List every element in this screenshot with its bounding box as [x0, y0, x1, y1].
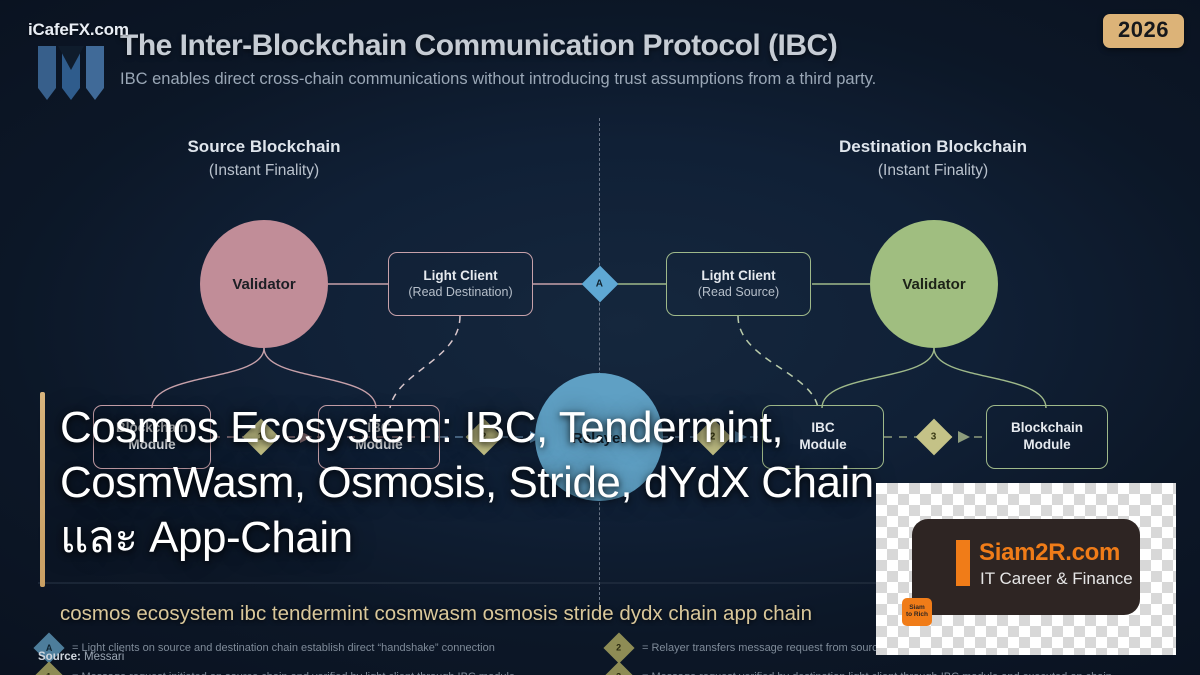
title-accent-bar	[40, 392, 45, 587]
siam2r-logo-card: Siam2R.com IT Career & Finance	[912, 519, 1140, 615]
siam2r-tagline: IT Career & Finance	[980, 569, 1133, 589]
overlay-keywords: cosmos ecosystem ibc tendermint cosmwasm…	[60, 602, 960, 626]
dest-light-client-title: Light Client	[701, 268, 775, 285]
dest-light-client-sub: (Read Source)	[698, 285, 779, 301]
slide-canvas: iCafeFX.com The Inter-Blockchain Communi…	[0, 0, 1200, 675]
dest-blockchain-module-l1: Blockchain	[1011, 420, 1083, 437]
source-light-client-box: Light Client (Read Destination)	[388, 252, 533, 316]
dest-blockchain-module-box: Blockchain Module	[986, 405, 1108, 469]
marker-3-label: 3	[931, 432, 937, 443]
legend-text-3: = Message request verified by destinatio…	[642, 671, 1112, 675]
source-validator-node: Validator	[200, 220, 328, 348]
source-light-client-sub: (Read Destination)	[408, 285, 512, 301]
source-attribution-value: Messari	[84, 651, 124, 663]
siam2r-name: Siam2R.com	[979, 539, 1120, 567]
overlay-title: Cosmos Ecosystem: IBC, Tendermint, CosmW…	[60, 400, 890, 565]
legend-text-a: = Light clients on source and destinatio…	[72, 642, 495, 654]
siam-to-rich-chip: Siam to Rich	[902, 598, 932, 626]
dest-validator-node: Validator	[870, 220, 998, 348]
dest-light-client-box: Light Client (Read Source)	[666, 252, 811, 316]
dest-blockchain-module-l2: Module	[1023, 437, 1070, 454]
legend-marker-2-label: 2	[616, 643, 621, 653]
icafefx-logo-text: iCafeFX.com	[28, 20, 129, 40]
source-attribution: Source: Messari	[38, 651, 124, 663]
source-attribution-label: Source:	[38, 651, 81, 663]
siam2r-watermark: Siam2R.com IT Career & Finance Siam to R…	[876, 483, 1176, 655]
siam-to-rich-line2: to Rich	[906, 612, 928, 619]
source-light-client-title: Light Client	[423, 268, 497, 285]
legend-text-1: = Message request initiated on source ch…	[72, 671, 515, 675]
legend-marker-2: 2	[603, 632, 634, 663]
marker-a-label: A	[596, 278, 603, 289]
siam2r-bar-icon	[956, 540, 970, 586]
legend-item-1: 1 = Message request initiated on source …	[38, 666, 515, 675]
legend-item-3: 3 = Message request verified by destinat…	[608, 666, 1112, 675]
